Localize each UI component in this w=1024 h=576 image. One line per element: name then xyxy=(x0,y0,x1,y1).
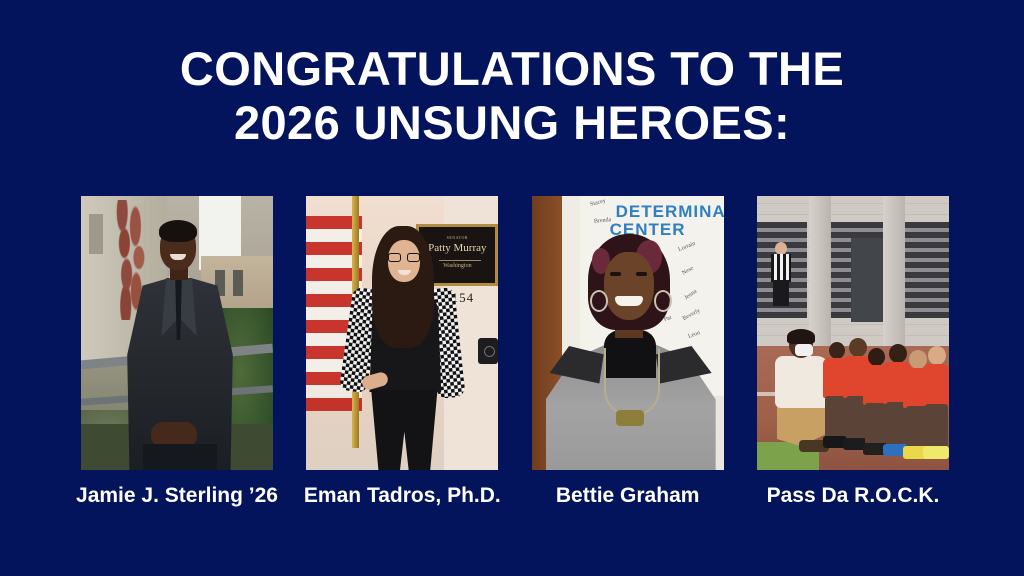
eyeglasses-icon xyxy=(388,253,420,262)
honoree-row: Jamie J. Sterling ’26 xyxy=(81,196,949,526)
honoree-name-1: Jamie J. Sterling ’26 xyxy=(76,483,278,508)
eye xyxy=(636,272,647,276)
gym-door xyxy=(851,238,883,322)
honoree-name-2: Eman Tadros, Ph.D. xyxy=(304,483,501,508)
window-icon xyxy=(233,270,243,296)
smile xyxy=(615,296,643,306)
page-title: CONGRATULATIONS TO THE 2026 UNSUNG HEROE… xyxy=(0,42,1024,150)
wall-column xyxy=(883,196,905,346)
hair xyxy=(159,220,197,242)
honoree-card-4: Pass Da R.O.C.K. xyxy=(757,196,949,508)
honoree-photo-3: DETERMINA CENTER Stacey Brenda Lorrain N… xyxy=(532,196,724,470)
player-shoe xyxy=(923,446,949,459)
banner-text-line-1: DETERMINA xyxy=(616,202,724,222)
photo-scene-banner: DETERMINA CENTER Stacey Brenda Lorrain N… xyxy=(532,196,724,470)
referee-striped-shirt xyxy=(771,254,791,282)
black-trousers xyxy=(368,390,440,470)
honoree-photo-1 xyxy=(81,196,273,470)
player-legs xyxy=(925,404,948,448)
hoop-earring-icon xyxy=(654,290,672,312)
referee-legs xyxy=(773,280,789,306)
hoop-earring-icon xyxy=(590,290,608,312)
slide-canvas: CONGRATULATIONS TO THE 2026 UNSUNG HEROE… xyxy=(0,0,1024,576)
plaque-senator-label: SENATOR xyxy=(419,235,495,240)
honoree-card-1: Jamie J. Sterling ’26 xyxy=(81,196,273,508)
coach-hair xyxy=(787,329,815,344)
photo-scene-basketball-team xyxy=(757,196,949,470)
face xyxy=(604,252,654,320)
folded-bleachers xyxy=(905,222,949,318)
photo-scene-senate-office: SENATOR Patty Murray Washington CR154 xyxy=(306,196,498,470)
honoree-photo-2: SENATOR Patty Murray Washington CR154 xyxy=(306,196,498,470)
player-jersey xyxy=(923,364,949,406)
honoree-name-3: Bettie Graham xyxy=(556,483,700,508)
honoree-card-3: DETERMINA CENTER Stacey Brenda Lorrain N… xyxy=(532,196,724,508)
referee xyxy=(771,242,791,304)
wall-column xyxy=(809,196,831,346)
title-line-2: 2026 UNSUNG HEROES: xyxy=(0,96,1024,150)
honoree-card-2: SENATOR Patty Murray Washington CR154 xyxy=(306,196,498,508)
honoree-name-4: Pass Da R.O.C.K. xyxy=(767,483,940,508)
player xyxy=(923,346,949,460)
trousers xyxy=(143,444,217,470)
title-line-1: CONGRATULATIONS TO THE xyxy=(0,42,1024,96)
wall-panel-icon xyxy=(478,338,498,364)
player-head xyxy=(928,346,946,365)
necklace-pendant xyxy=(616,410,644,426)
face-mask-icon xyxy=(795,344,813,356)
plaque-senator-name: Patty Murray xyxy=(419,242,495,254)
necklace-chain xyxy=(604,348,660,416)
honoree-photo-4 xyxy=(757,196,949,470)
eye xyxy=(610,272,621,276)
coach-polo-shirt xyxy=(775,356,829,408)
photo-scene-graduate xyxy=(81,196,273,470)
plaque-divider xyxy=(439,260,481,261)
window-icon xyxy=(89,214,103,254)
